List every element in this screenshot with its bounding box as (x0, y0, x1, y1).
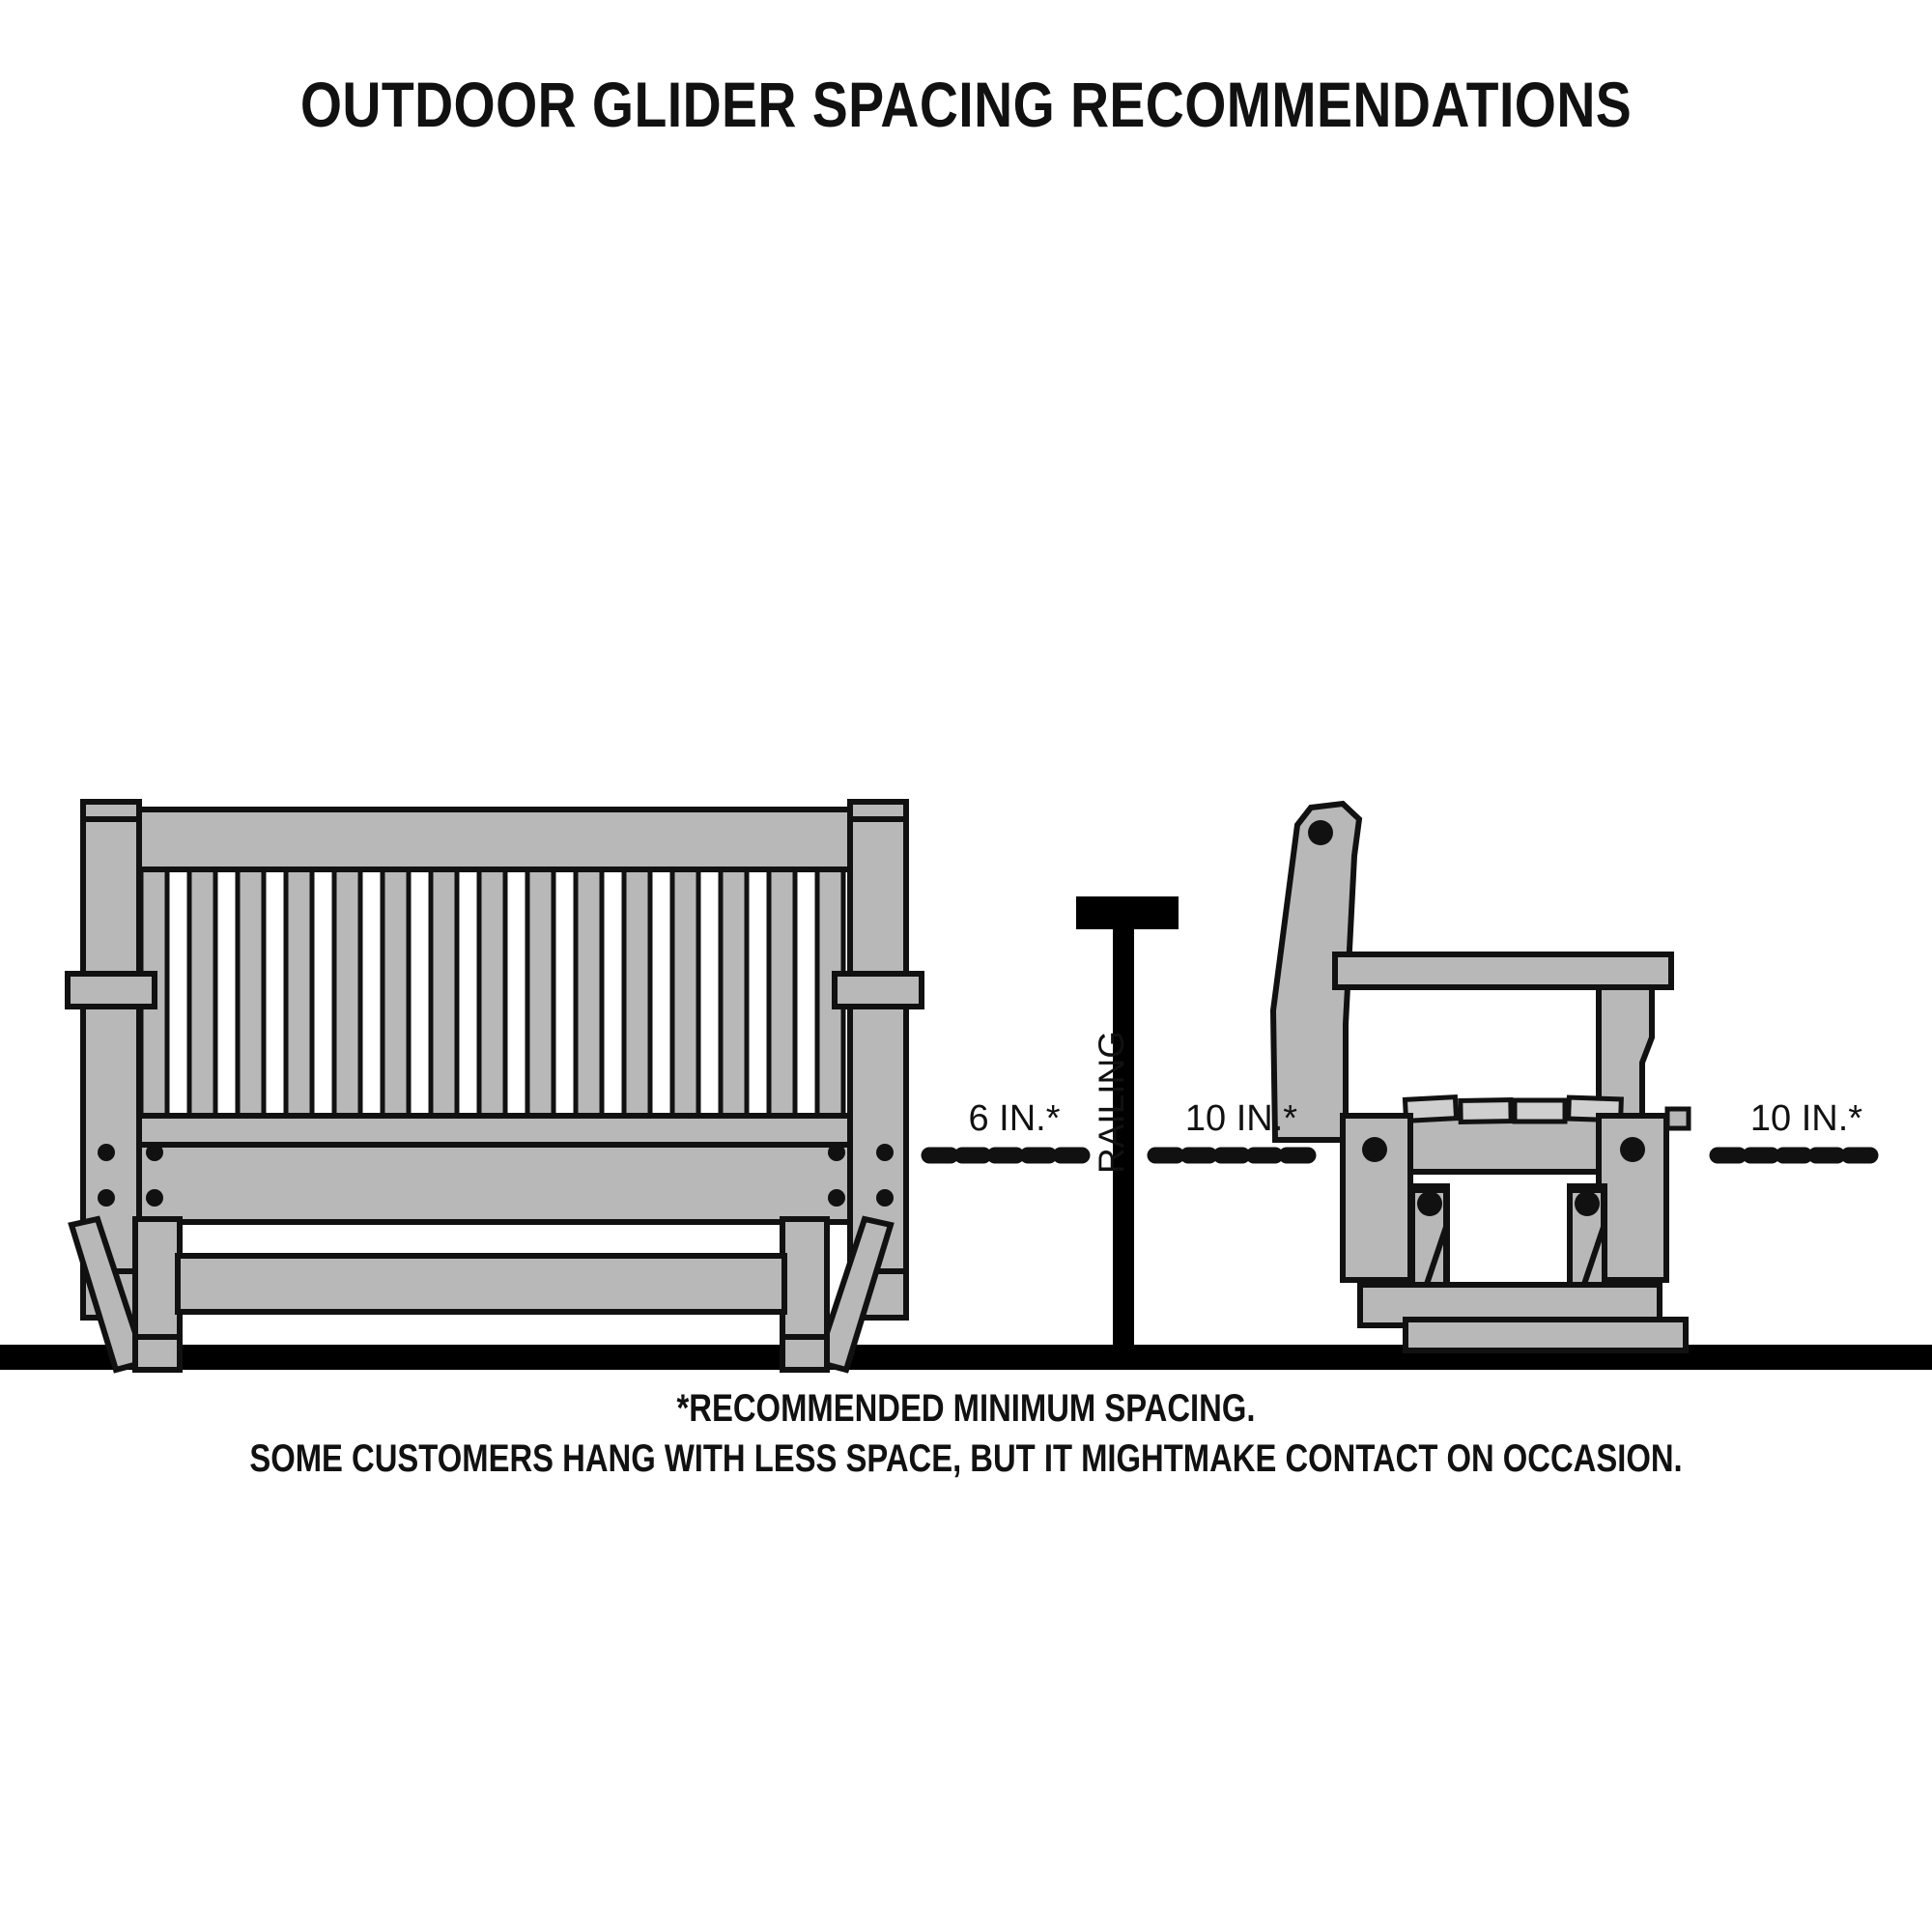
seat-apron-side (1406, 1116, 1628, 1172)
seat-slats (1405, 1097, 1621, 1122)
glider-front-view (68, 802, 922, 1370)
seat-apron-board (116, 1145, 874, 1222)
armrest-board (1335, 954, 1671, 987)
railing-cap (1076, 896, 1179, 929)
caption-block: *RECOMMENDED MINIMUM SPACING. SOME CUSTO… (0, 1383, 1932, 1484)
diagram-page: OUTDOOR GLIDER SPACING RECOMMENDATIONS (0, 0, 1932, 1932)
dimension-label-10in-far-right: 10 IN.* (1700, 1098, 1913, 1140)
dimension-label-6in: 6 IN.* (927, 1098, 1101, 1140)
backrest-slats (141, 865, 843, 1127)
backrest-bolt (1308, 820, 1333, 845)
dimension-label-10in-right-of-railing: 10 IN.* (1145, 1098, 1338, 1140)
top-back-rail (104, 810, 889, 869)
caption-line-1: *RECOMMENDED MINIMUM SPACING. (174, 1383, 1758, 1434)
glider-floor-plate (1406, 1320, 1686, 1350)
lower-stretcher-rail (178, 1256, 784, 1312)
railing-label: RAILING (1092, 1031, 1132, 1174)
diagram-stage (0, 0, 1932, 1932)
seat-apron-upper (116, 1116, 874, 1145)
armrest-peg (1667, 1109, 1689, 1128)
glider-side-view (1273, 804, 1689, 1350)
caption-line-2: SOME CUSTOMERS HANG WITH LESS SPACE, BUT… (174, 1434, 1758, 1484)
